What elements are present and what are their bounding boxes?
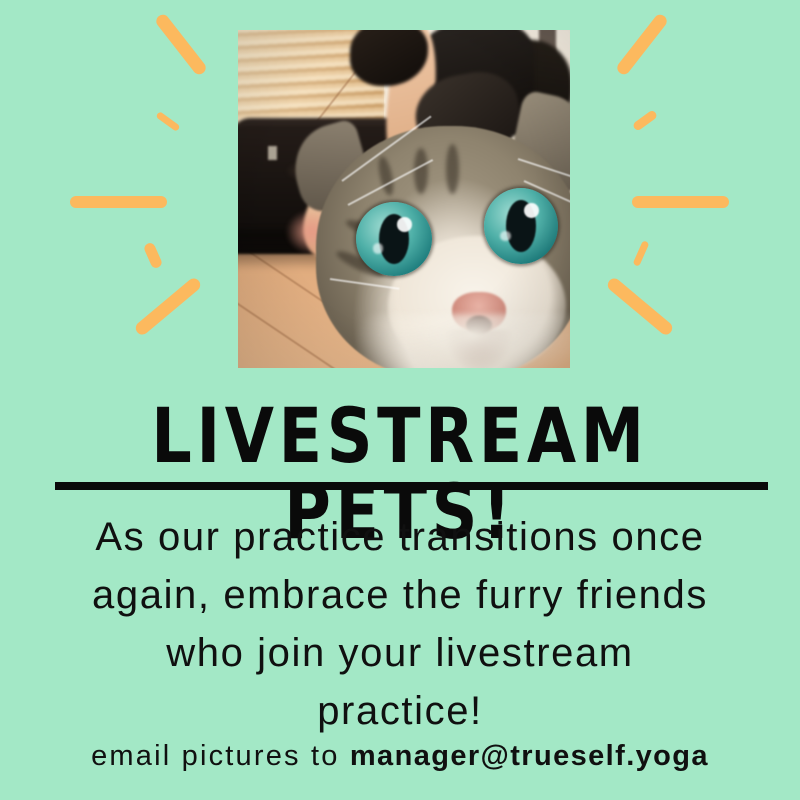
cat-photo	[238, 30, 570, 368]
sparkle-stroke	[632, 196, 729, 208]
body-copy: As our practice transitions once again, …	[28, 508, 772, 740]
body-line: As our practice transitions once	[28, 508, 772, 566]
body-line: practice!	[28, 682, 772, 740]
poster: LIVESTREAM PETS! As our practice transit…	[0, 0, 800, 800]
body-line: again, embrace the furry friends	[28, 566, 772, 624]
photo-vignette	[238, 30, 570, 368]
title-underline	[55, 482, 768, 490]
email-address[interactable]: manager@trueself.yoga	[350, 740, 709, 772]
email-cta: email pictures to manager@trueself.yoga	[0, 738, 800, 774]
body-line: who join your livestream	[28, 624, 772, 682]
sparkle-stroke	[70, 196, 167, 208]
email-prefix-label: email pictures to	[91, 740, 350, 772]
